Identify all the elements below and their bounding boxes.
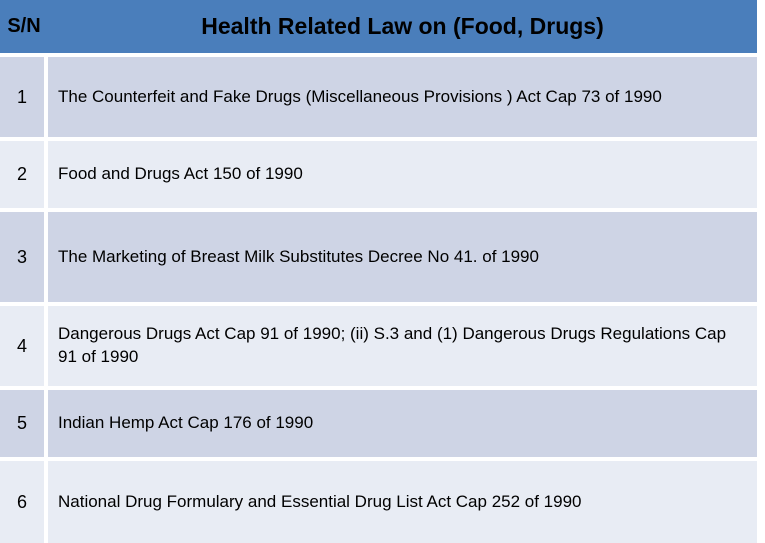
row-serial-number: 6 <box>0 457 48 543</box>
row-law-text: Food and Drugs Act 150 of 1990 <box>48 137 757 208</box>
table-row: 2 Food and Drugs Act 150 of 1990 <box>0 137 757 208</box>
row-serial-number: 4 <box>0 302 48 386</box>
health-law-table: S/N Health Related Law on (Food, Drugs) … <box>0 0 757 543</box>
row-law-text: The Marketing of Breast Milk Substitutes… <box>48 208 757 302</box>
header-row: S/N Health Related Law on (Food, Drugs) <box>0 0 757 53</box>
table-container: S/N Health Related Law on (Food, Drugs) … <box>0 0 765 499</box>
row-law-text: National Drug Formulary and Essential Dr… <box>48 457 757 543</box>
row-law-text: Dangerous Drugs Act Cap 91 of 1990; (ii)… <box>48 302 757 386</box>
table-row: 4 Dangerous Drugs Act Cap 91 of 1990; (i… <box>0 302 757 386</box>
row-serial-number: 5 <box>0 386 48 457</box>
table-header: S/N Health Related Law on (Food, Drugs) <box>0 0 757 53</box>
table-row: 3 The Marketing of Breast Milk Substitut… <box>0 208 757 302</box>
table-row: 6 National Drug Formulary and Essential … <box>0 457 757 543</box>
row-serial-number: 1 <box>0 53 48 137</box>
table-body: 1 The Counterfeit and Fake Drugs (Miscel… <box>0 53 757 543</box>
row-law-text: The Counterfeit and Fake Drugs (Miscella… <box>48 53 757 137</box>
row-serial-number: 3 <box>0 208 48 302</box>
row-law-text: Indian Hemp Act Cap 176 of 1990 <box>48 386 757 457</box>
table-row: 5 Indian Hemp Act Cap 176 of 1990 <box>0 386 757 457</box>
row-serial-number: 2 <box>0 137 48 208</box>
column-header-law: Health Related Law on (Food, Drugs) <box>48 0 757 53</box>
table-row: 1 The Counterfeit and Fake Drugs (Miscel… <box>0 53 757 137</box>
column-header-sn: S/N <box>0 0 48 53</box>
